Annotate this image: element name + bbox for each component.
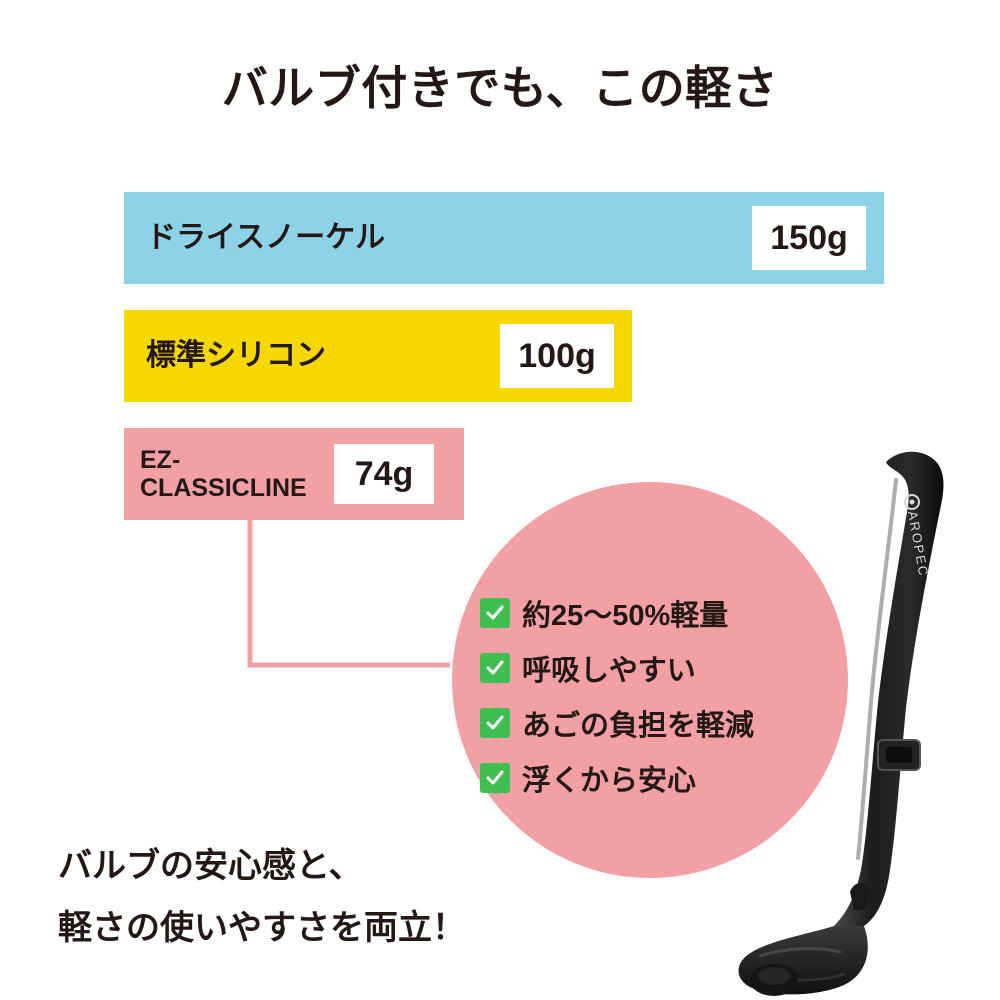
bar-value-standard-silicone: 100g — [500, 324, 614, 388]
feature-label: 約25〜50%軽量 — [522, 592, 728, 634]
feature-label: 浮くから安心 — [522, 757, 696, 799]
bar-value-dry-snorkel: 150g — [752, 206, 866, 270]
page-title: バルブ付きでも、この軽さ — [0, 52, 1000, 118]
check-icon — [480, 653, 510, 683]
check-icon — [480, 598, 510, 628]
bar-label-dry-snorkel: ドライスノーケル — [146, 221, 385, 255]
infographic-page: バルブ付きでも、この軽さ ドライスノーケル 150g 標準シリコン 100g E… — [0, 0, 1000, 1000]
mask-clip — [878, 740, 920, 770]
bar-label-ez-classicline: EZ- CLASSICLINE — [140, 446, 307, 502]
bar-value-ez-classicline: 74g — [334, 444, 434, 504]
bar-label-standard-silicone: 標準シリコン — [146, 339, 326, 373]
check-icon — [480, 708, 510, 738]
caption-line-1: バルブの安心感と、 — [58, 838, 363, 887]
caption-line-2: 軽さの使いやすさを両立！ — [58, 900, 466, 949]
check-icon — [480, 763, 510, 793]
feature-label: 呼吸しやすい — [522, 647, 696, 689]
product-image-snorkel: AROPEC — [700, 440, 1000, 1000]
